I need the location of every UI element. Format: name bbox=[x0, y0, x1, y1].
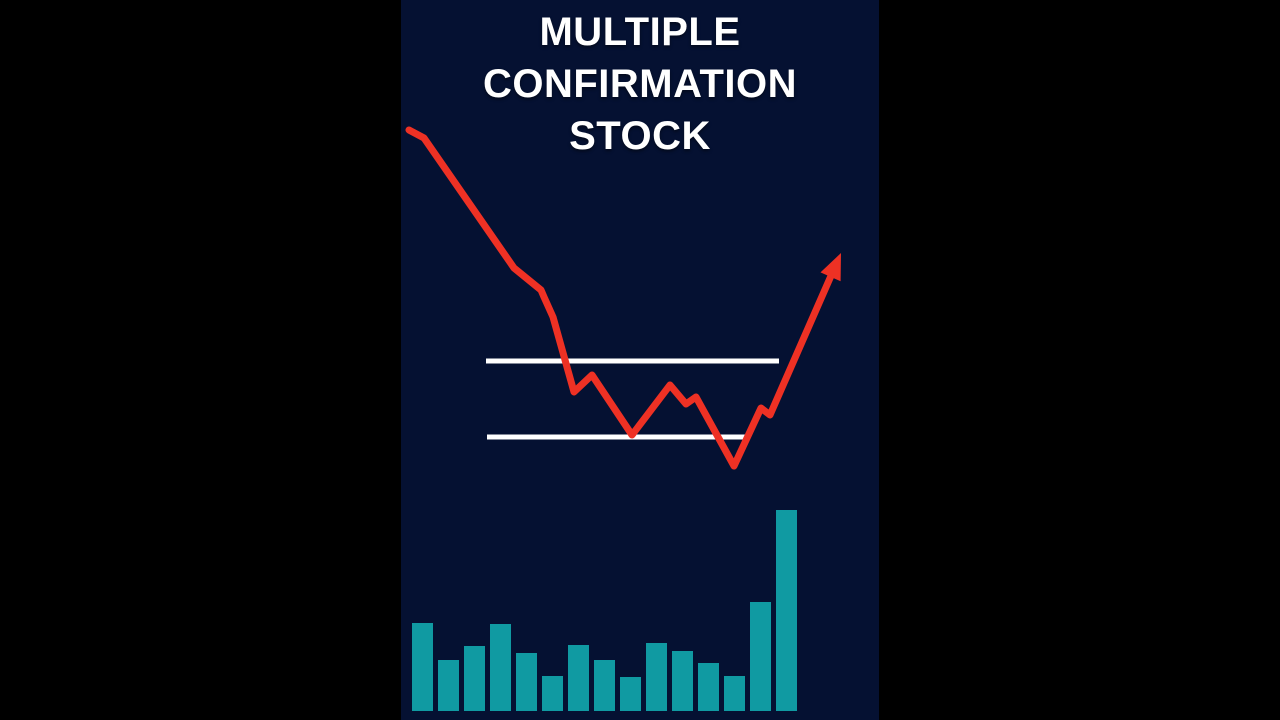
volume-bar bbox=[750, 602, 771, 711]
letterbox-left bbox=[0, 0, 401, 720]
volume-bar bbox=[776, 510, 797, 711]
volume-bar bbox=[438, 660, 459, 711]
volume-bar bbox=[412, 623, 433, 711]
volume-bar bbox=[490, 624, 511, 711]
volume-bar bbox=[464, 646, 485, 711]
volume-bar bbox=[698, 663, 719, 711]
letterbox-right bbox=[879, 0, 1280, 720]
volume-bar-group bbox=[412, 510, 797, 711]
volume-bar bbox=[724, 676, 745, 711]
price-line-group bbox=[409, 130, 841, 466]
page-title: MULTIPLE CONFIRMATION STOCK bbox=[401, 6, 879, 162]
volume-bar bbox=[516, 653, 537, 711]
volume-bar bbox=[542, 676, 563, 711]
volume-bar bbox=[672, 651, 693, 711]
video-panel: MULTIPLE CONFIRMATION STOCK bbox=[401, 0, 879, 720]
volume-bar bbox=[594, 660, 615, 711]
volume-bar bbox=[646, 643, 667, 711]
volume-bar bbox=[568, 645, 589, 711]
price-line bbox=[409, 130, 833, 466]
level-line-group bbox=[486, 361, 779, 437]
volume-bar bbox=[620, 677, 641, 711]
screenshot-root: MULTIPLE CONFIRMATION STOCK bbox=[0, 0, 1280, 720]
